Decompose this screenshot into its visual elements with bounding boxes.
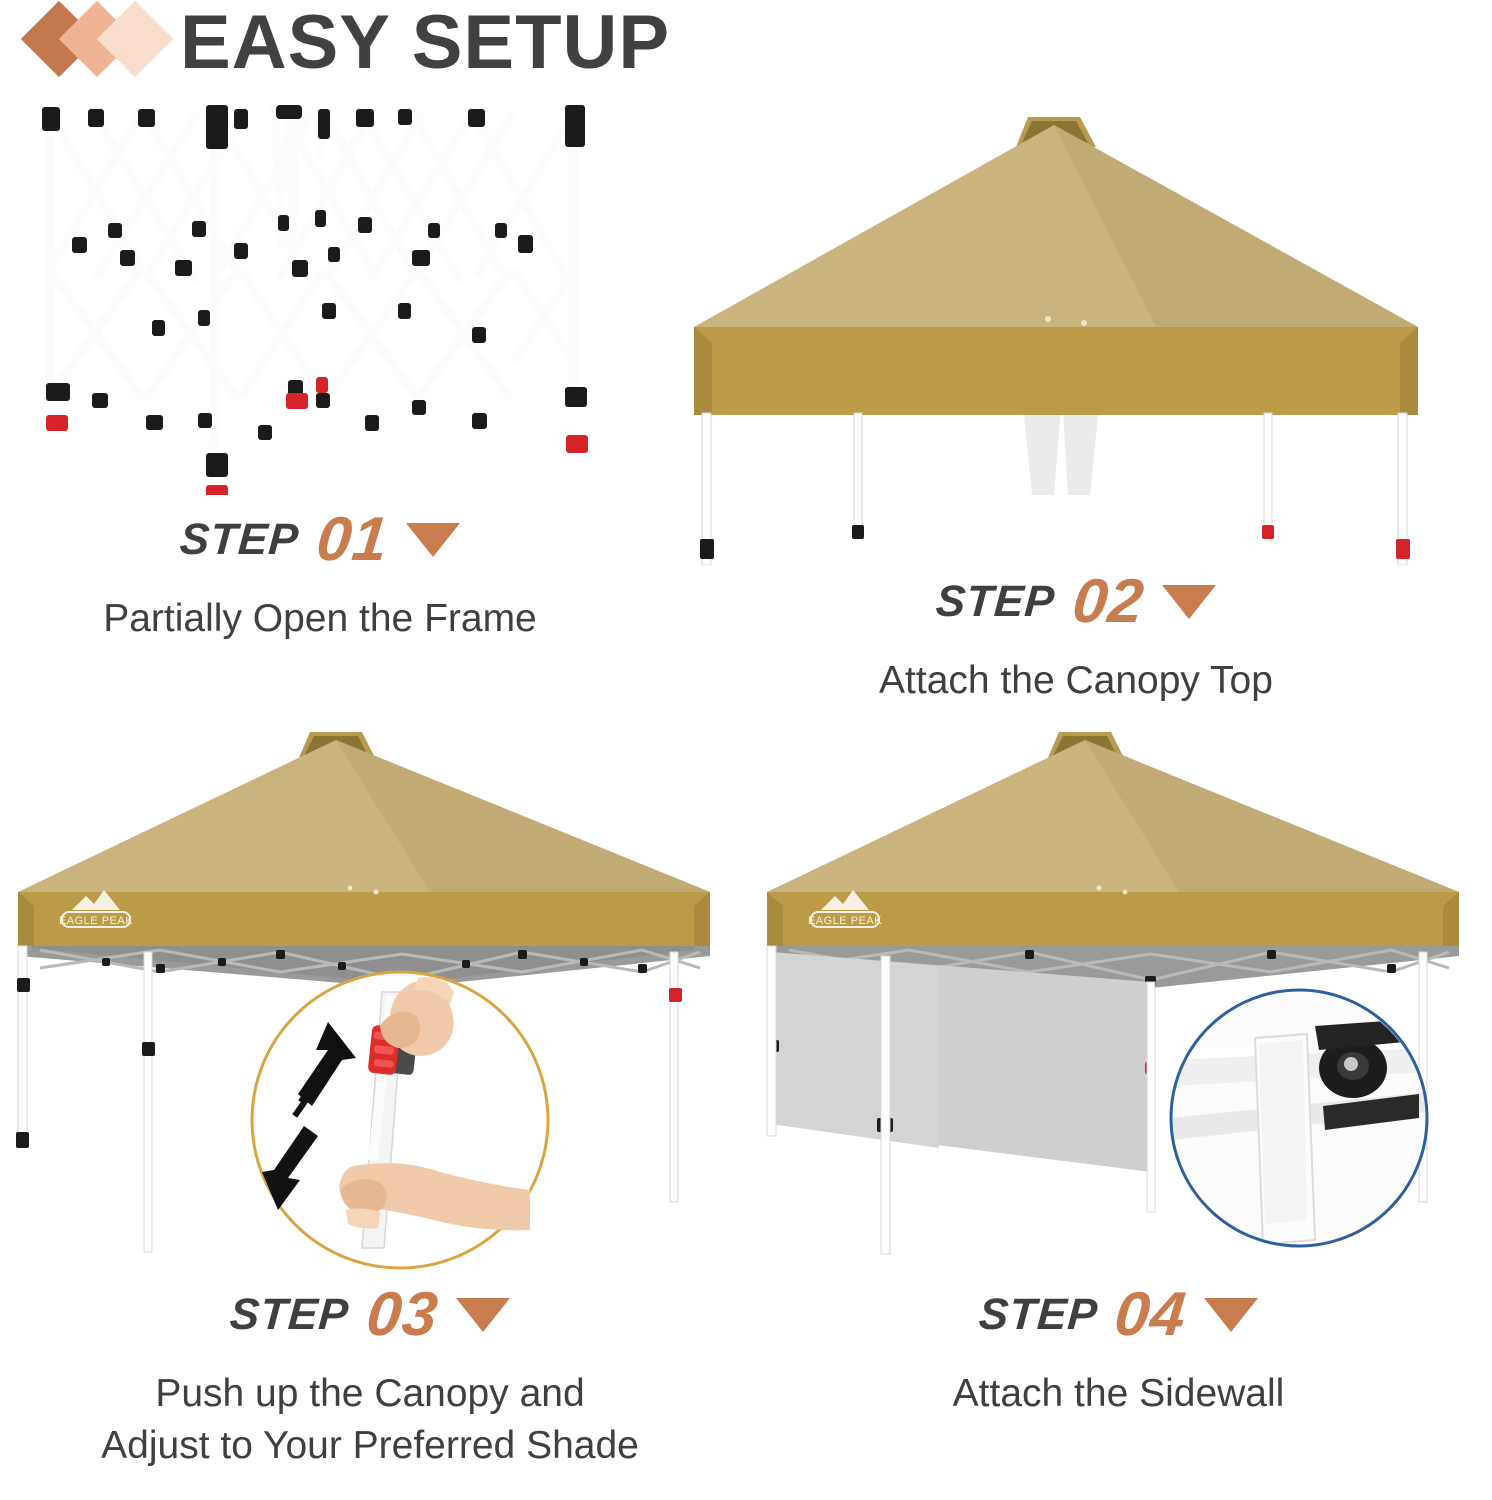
step-caption-line: Attach the Sidewall: [745, 1368, 1492, 1420]
canopy-hand-svg: EAGLE PEAK: [10, 720, 730, 1280]
page-header: EASY SETUP: [0, 0, 1492, 95]
step-word-01: STEP: [178, 515, 300, 565]
step-caption-line: Push up the Canopy and: [0, 1368, 740, 1420]
brand-logo-text: EAGLE PEAK: [59, 915, 133, 927]
frame-illustration: [0, 95, 640, 495]
step-caption-01: Partially Open the Frame: [0, 593, 640, 645]
velcro-detail-circle: [1171, 990, 1427, 1246]
diamond-decoration-icon: [28, 2, 168, 78]
step-caption-line: Adjust to Your Preferred Shade: [0, 1420, 740, 1472]
step-caption-line: Attach the Canopy Top: [660, 655, 1492, 707]
infographic-page: EASY SETUP: [0, 0, 1492, 1500]
triangle-down-icon-03: [456, 1298, 510, 1332]
pole-adjust-detail-circle: [252, 972, 548, 1268]
step-number-02: 02: [1070, 571, 1147, 633]
canopy-sidewall-illustration: EAGLE PEAK: [745, 720, 1492, 1280]
canopy-person-svg: [676, 95, 1476, 565]
step-label-row-01: STEP 01: [0, 509, 640, 571]
step-label-row-04: STEP 04: [745, 1284, 1492, 1346]
step-number-04: 04: [1112, 1284, 1189, 1346]
canopy-person-illustration: [660, 95, 1492, 565]
step-label-row-03: STEP 03: [0, 1284, 740, 1346]
step-panel-03: EAGLE PEAK: [0, 720, 740, 1500]
step-word-03: STEP: [228, 1290, 350, 1340]
step-word-04: STEP: [977, 1290, 1099, 1340]
brand-logo-text: EAGLE PEAK: [807, 915, 881, 927]
page-title: EASY SETUP: [180, 0, 670, 88]
step-number-01: 01: [314, 509, 391, 571]
step-panel-01: STEP 01 Partially Open the Frame: [0, 95, 640, 695]
step-panel-02: STEP 02 Attach the Canopy Top: [660, 95, 1492, 695]
step-caption-04: Attach the Sidewall: [745, 1368, 1492, 1420]
triangle-down-icon-02: [1162, 585, 1216, 619]
canopy-hand-illustration: EAGLE PEAK: [0, 720, 740, 1280]
canopy-valance: [694, 327, 1418, 415]
step-number-03: 03: [364, 1284, 441, 1346]
folded-frame-svg: [20, 95, 620, 495]
triangle-down-icon-04: [1204, 1298, 1258, 1332]
step-panel-04: EAGLE PEAK: [745, 720, 1492, 1500]
step-caption-02: Attach the Canopy Top: [660, 655, 1492, 707]
step-caption-03: Push up the Canopy and Adjust to Your Pr…: [0, 1368, 740, 1472]
canopy-sidewall-svg: EAGLE PEAK: [759, 720, 1479, 1280]
triangle-down-icon-01: [406, 523, 460, 557]
step-caption-line: Partially Open the Frame: [0, 593, 640, 645]
step-label-row-02: STEP 02: [660, 571, 1492, 633]
step-word-02: STEP: [934, 577, 1056, 627]
